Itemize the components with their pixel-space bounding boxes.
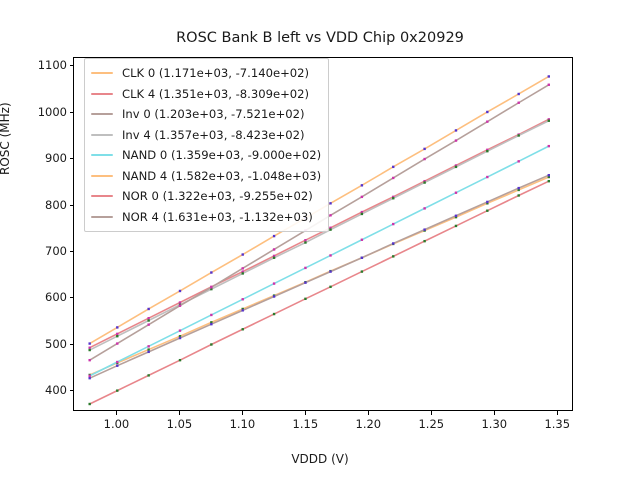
data-point	[304, 281, 306, 283]
data-point	[88, 403, 90, 405]
data-point	[88, 359, 90, 361]
data-point	[273, 257, 275, 259]
data-point	[273, 313, 275, 315]
data-point	[116, 335, 118, 337]
y-tick-label: 800	[25, 198, 67, 212]
data-point	[361, 184, 363, 186]
data-point	[88, 347, 90, 349]
data-point	[329, 270, 331, 272]
data-point	[329, 214, 331, 216]
data-point	[273, 248, 275, 250]
data-point	[455, 139, 457, 141]
data-point	[210, 323, 212, 325]
data-point	[242, 309, 244, 311]
legend-label: NOR 4 (1.631e+03, -1.132e+03)	[122, 210, 313, 224]
legend-item: CLK 0 (1.171e+03, -7.140e+02)	[91, 63, 321, 84]
chart-title: ROSC Bank B left vs VDD Chip 0x20929	[0, 30, 640, 46]
data-point	[273, 235, 275, 237]
data-point	[304, 298, 306, 300]
data-point	[242, 253, 244, 255]
data-point	[392, 242, 394, 244]
data-point	[210, 343, 212, 345]
data-point	[517, 93, 519, 95]
x-tick-label: 1.00	[104, 417, 130, 431]
data-point	[392, 166, 394, 168]
legend-label: Inv 0 (1.203e+03, -7.521e+02)	[122, 107, 305, 121]
data-point	[329, 254, 331, 256]
x-tick-mark	[116, 411, 117, 415]
y-tick-label: 600	[25, 290, 67, 304]
x-tick-mark	[242, 411, 243, 415]
data-point	[517, 194, 519, 196]
y-tick-label: 700	[25, 244, 67, 258]
data-point	[88, 375, 90, 377]
data-point	[242, 298, 244, 300]
data-point	[116, 333, 118, 335]
data-point	[423, 181, 425, 183]
data-point	[147, 319, 149, 321]
x-tick-label: 1.15	[293, 417, 319, 431]
legend-item: NAND 4 (1.582e+03, -1.048e+03)	[91, 166, 321, 187]
data-point	[179, 329, 181, 331]
legend: CLK 0 (1.171e+03, -7.140e+02)CLK 4 (1.35…	[84, 58, 329, 232]
data-point	[517, 160, 519, 162]
data-point	[88, 342, 90, 344]
x-tick-label: 1.10	[230, 417, 256, 431]
legend-item: NOR 4 (1.631e+03, -1.132e+03)	[91, 207, 321, 228]
data-point	[179, 337, 181, 339]
data-point	[361, 270, 363, 272]
data-point	[486, 210, 488, 212]
data-point	[147, 308, 149, 310]
y-tick-label: 900	[25, 151, 67, 165]
data-point	[242, 272, 244, 274]
data-point	[548, 120, 550, 122]
data-point	[361, 257, 363, 259]
x-tick-mark	[557, 411, 558, 415]
data-point	[147, 317, 149, 319]
data-point	[361, 196, 363, 198]
legend-swatch	[91, 195, 113, 197]
legend-swatch	[91, 154, 113, 156]
legend-swatch	[91, 113, 113, 115]
data-point	[147, 345, 149, 347]
x-tick-mark	[305, 411, 306, 415]
data-point	[548, 180, 550, 182]
data-point	[423, 148, 425, 150]
data-point	[116, 365, 118, 367]
data-point	[329, 202, 331, 204]
x-axis-label: VDDD (V)	[0, 452, 640, 466]
data-point	[147, 374, 149, 376]
data-point	[486, 201, 488, 203]
data-point	[423, 158, 425, 160]
x-tick-mark	[179, 411, 180, 415]
data-point	[486, 176, 488, 178]
data-point	[329, 228, 331, 230]
data-point	[455, 215, 457, 217]
legend-item: Inv 4 (1.357e+03, -8.423e+02)	[91, 125, 321, 146]
data-point	[361, 239, 363, 241]
data-point	[517, 134, 519, 136]
x-tick-label: 1.20	[356, 417, 382, 431]
data-point	[147, 348, 149, 350]
data-point	[179, 301, 181, 303]
x-tick-label: 1.30	[481, 417, 507, 431]
data-point	[329, 286, 331, 288]
legend-swatch	[91, 216, 113, 218]
data-point	[548, 145, 550, 147]
data-point	[455, 129, 457, 131]
data-point	[88, 349, 90, 351]
data-point	[116, 342, 118, 344]
data-point	[242, 328, 244, 330]
data-point	[210, 271, 212, 273]
legend-swatch	[91, 175, 113, 177]
x-tick-mark	[431, 411, 432, 415]
data-point	[392, 255, 394, 257]
data-point	[517, 187, 519, 189]
legend-item: CLK 4 (1.351e+03, -8.309e+02)	[91, 84, 321, 105]
data-point	[455, 192, 457, 194]
y-tick-label: 1100	[25, 58, 67, 72]
data-point	[273, 295, 275, 297]
data-point	[179, 305, 181, 307]
data-point	[88, 377, 90, 379]
data-point	[179, 290, 181, 292]
data-point	[486, 120, 488, 122]
data-point	[392, 177, 394, 179]
data-point	[147, 323, 149, 325]
data-point	[548, 84, 550, 86]
data-point	[455, 225, 457, 227]
data-point	[116, 326, 118, 328]
data-point	[147, 351, 149, 353]
data-point	[242, 267, 244, 269]
x-tick-label: 1.25	[418, 417, 444, 431]
x-tick-label: 1.35	[544, 417, 570, 431]
data-point	[423, 240, 425, 242]
y-tick-label: 500	[25, 337, 67, 351]
figure: ROSC Bank B left vs VDD Chip 0x20929 ROS…	[0, 0, 640, 480]
data-point	[517, 102, 519, 104]
data-point	[304, 267, 306, 269]
data-point	[116, 361, 118, 363]
legend-item: Inv 0 (1.203e+03, -7.521e+02)	[91, 104, 321, 125]
y-tick-label: 400	[25, 383, 67, 397]
data-point	[116, 389, 118, 391]
legend-label: NOR 0 (1.322e+03, -9.255e+02)	[122, 189, 313, 203]
data-point	[179, 359, 181, 361]
y-tick-label: 1000	[25, 105, 67, 119]
legend-swatch	[91, 72, 113, 74]
data-point	[273, 282, 275, 284]
data-point	[486, 150, 488, 152]
legend-swatch	[91, 93, 113, 95]
data-point	[210, 314, 212, 316]
legend-label: NAND 0 (1.359e+03, -9.000e+02)	[122, 148, 321, 162]
legend-swatch	[91, 134, 113, 136]
legend-label: Inv 4 (1.357e+03, -8.423e+02)	[122, 128, 305, 142]
data-point	[210, 286, 212, 288]
y-axis-label: ROSC (MHz)	[0, 102, 12, 175]
data-point	[486, 111, 488, 113]
data-point	[361, 213, 363, 215]
data-point	[548, 174, 550, 176]
legend-item: NOR 0 (1.322e+03, -9.255e+02)	[91, 186, 321, 207]
data-point	[455, 166, 457, 168]
data-point	[548, 75, 550, 77]
x-tick-mark	[368, 411, 369, 415]
data-point	[304, 241, 306, 243]
x-tick-label: 1.05	[167, 417, 193, 431]
data-point	[304, 239, 306, 241]
data-point	[423, 207, 425, 209]
data-point	[392, 223, 394, 225]
legend-item: NAND 0 (1.359e+03, -9.000e+02)	[91, 145, 321, 166]
legend-label: CLK 4 (1.351e+03, -8.309e+02)	[122, 87, 309, 101]
legend-label: NAND 4 (1.582e+03, -1.048e+03)	[122, 169, 321, 183]
data-point	[392, 197, 394, 199]
data-point	[423, 228, 425, 230]
legend-label: CLK 0 (1.171e+03, -7.140e+02)	[122, 66, 309, 80]
x-tick-mark	[494, 411, 495, 415]
